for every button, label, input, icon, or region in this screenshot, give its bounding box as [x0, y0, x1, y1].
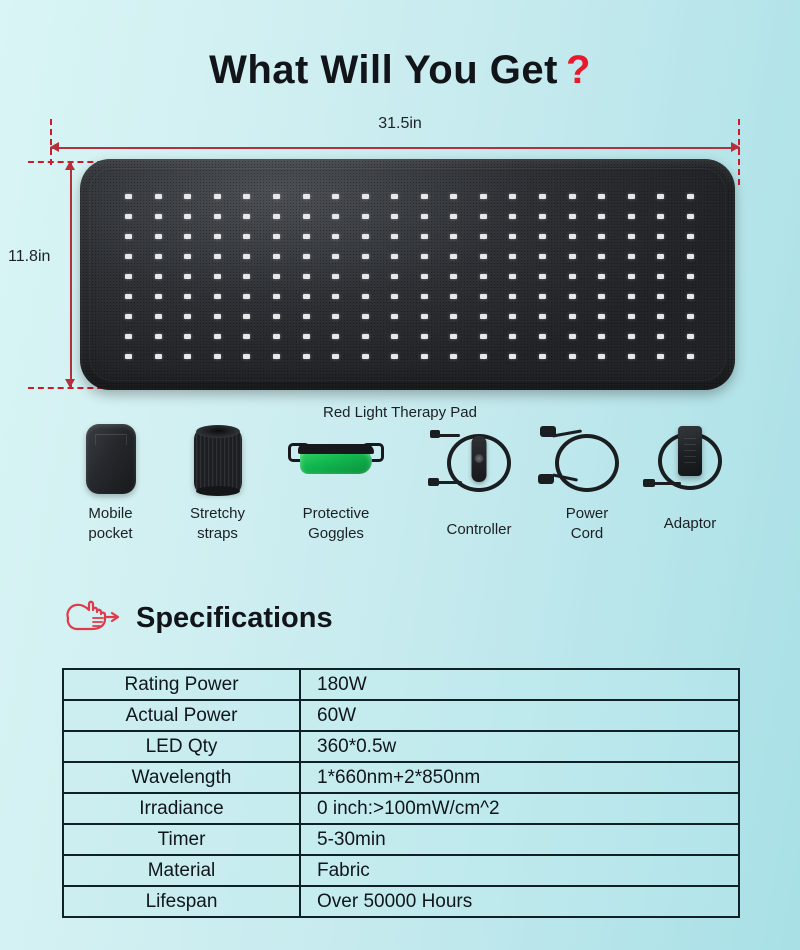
led-dot — [598, 314, 605, 319]
led-dot — [687, 334, 694, 339]
led-dot — [362, 234, 369, 239]
accessory-label: Power Cord — [532, 504, 642, 545]
table-row: Timer5-30min — [63, 824, 739, 855]
led-dot — [125, 214, 132, 219]
table-row: MaterialFabric — [63, 855, 739, 886]
led-dot — [509, 234, 516, 239]
spec-value: 360*0.5w — [300, 731, 739, 762]
led-dot — [214, 334, 221, 339]
led-dot — [628, 314, 635, 319]
led-dot — [243, 334, 250, 339]
led-dot — [687, 234, 694, 239]
height-dimension-label: 11.8in — [8, 248, 50, 266]
accessories-row: Mobile pocket Stretchy straps Protective… — [0, 418, 800, 578]
led-dot — [362, 274, 369, 279]
led-dot — [362, 314, 369, 319]
led-dot — [569, 274, 576, 279]
led-dot — [391, 194, 398, 199]
led-dot — [125, 234, 132, 239]
led-dot — [155, 234, 162, 239]
led-dot — [332, 254, 339, 259]
spec-value: 180W — [300, 669, 739, 700]
led-dot — [687, 274, 694, 279]
width-dimension-label: 31.5in — [0, 115, 800, 133]
led-dot — [450, 234, 457, 239]
led-dot — [657, 334, 664, 339]
led-dot — [628, 274, 635, 279]
led-dot — [125, 194, 132, 199]
led-dot — [509, 274, 516, 279]
accessory-mobile-pocket: Mobile pocket — [58, 418, 163, 545]
led-dot — [628, 214, 635, 219]
spec-key: Irradiance — [63, 793, 300, 824]
spec-key: Timer — [63, 824, 300, 855]
led-dot — [421, 254, 428, 259]
width-dimension-line — [50, 147, 740, 149]
led-dot — [184, 354, 191, 359]
led-dot — [539, 354, 546, 359]
led-dot — [155, 354, 162, 359]
led-dot — [539, 194, 546, 199]
led-dot — [391, 274, 398, 279]
led-dot — [214, 294, 221, 299]
led-dot — [687, 254, 694, 259]
led-dot — [332, 194, 339, 199]
led-dot — [450, 194, 457, 199]
page-title-text: What Will You Get — [209, 48, 558, 92]
accessory-power-cord: Power Cord — [532, 418, 642, 545]
led-dot — [303, 274, 310, 279]
led-dot — [569, 354, 576, 359]
led-dot — [539, 314, 546, 319]
led-dot — [184, 214, 191, 219]
table-row: LifespanOver 50000 Hours — [63, 886, 739, 917]
pointing-hand-icon — [62, 596, 122, 641]
led-dot — [214, 254, 221, 259]
spec-key: Lifespan — [63, 886, 300, 917]
led-dot — [391, 214, 398, 219]
spec-key: Material — [63, 855, 300, 886]
led-dot — [243, 194, 250, 199]
led-dot — [184, 194, 191, 199]
led-dot — [303, 294, 310, 299]
spec-key: Rating Power — [63, 669, 300, 700]
led-dot — [155, 194, 162, 199]
led-dot — [125, 314, 132, 319]
led-dot — [332, 274, 339, 279]
power-cord-icon — [532, 418, 642, 498]
led-dot — [450, 254, 457, 259]
accessory-label: Mobile pocket — [58, 504, 163, 545]
led-dot — [509, 314, 516, 319]
led-dot — [155, 294, 162, 299]
led-dot — [184, 294, 191, 299]
led-dot — [362, 294, 369, 299]
led-dot — [539, 234, 546, 239]
led-dot — [362, 194, 369, 199]
led-dot — [155, 254, 162, 259]
led-dot — [480, 274, 487, 279]
led-dot — [450, 274, 457, 279]
controller-cable-tail-bottom — [438, 481, 462, 484]
led-dot — [598, 294, 605, 299]
specifications-title: Specifications — [136, 602, 333, 635]
led-dot — [243, 274, 250, 279]
controller-plug — [430, 430, 440, 438]
spec-value: Fabric — [300, 855, 739, 886]
led-dot — [243, 234, 250, 239]
table-row: Rating Power180W — [63, 669, 739, 700]
specifications-table-body: Rating Power180WActual Power60WLED Qty36… — [63, 669, 739, 917]
led-dot — [303, 194, 310, 199]
controller-cable-tail — [438, 434, 460, 437]
spec-value: Over 50000 Hours — [300, 886, 739, 917]
led-dot — [598, 234, 605, 239]
led-dot — [125, 254, 132, 259]
product-illustration: 31.5in 11.8in — [0, 115, 800, 405]
led-dot — [125, 354, 132, 359]
led-dot — [421, 214, 428, 219]
led-dot — [628, 294, 635, 299]
iec-connector — [540, 426, 556, 437]
adaptor-dc-plug — [643, 479, 655, 487]
led-dot — [450, 314, 457, 319]
led-dot — [569, 194, 576, 199]
led-dot — [598, 334, 605, 339]
led-dot — [657, 194, 664, 199]
led-dot — [303, 334, 310, 339]
led-dot — [391, 334, 398, 339]
led-dot — [687, 294, 694, 299]
led-dot — [243, 254, 250, 259]
led-dot — [450, 334, 457, 339]
led-dot — [480, 194, 487, 199]
led-dot — [421, 274, 428, 279]
led-dot — [155, 334, 162, 339]
spec-value: 1*660nm+2*850nm — [300, 762, 739, 793]
led-dot — [598, 254, 605, 259]
led-dot — [569, 214, 576, 219]
led-dot — [509, 294, 516, 299]
led-dot — [362, 334, 369, 339]
led-dot — [480, 294, 487, 299]
led-dot — [273, 194, 280, 199]
height-dimension-line — [70, 163, 72, 387]
spec-key: Wavelength — [63, 762, 300, 793]
led-dot — [125, 334, 132, 339]
led-dot — [332, 334, 339, 339]
led-dot — [214, 354, 221, 359]
led-dot — [303, 354, 310, 359]
led-dot — [391, 314, 398, 319]
led-dot — [125, 294, 132, 299]
adaptor-icon — [635, 418, 745, 498]
led-dot — [391, 294, 398, 299]
led-dot — [362, 254, 369, 259]
led-dot — [273, 234, 280, 239]
led-dot — [539, 214, 546, 219]
led-dot — [657, 274, 664, 279]
led-dot — [421, 294, 428, 299]
protective-goggles-icon — [281, 418, 391, 498]
led-dot — [155, 274, 162, 279]
led-dot — [569, 294, 576, 299]
accessory-adaptor: Adaptor — [635, 418, 745, 534]
led-dot — [480, 214, 487, 219]
led-dot — [155, 314, 162, 319]
controller-icon — [424, 418, 534, 498]
led-dot — [273, 354, 280, 359]
led-dot — [303, 314, 310, 319]
question-mark: ? — [566, 48, 591, 92]
led-dot — [184, 274, 191, 279]
led-dot — [657, 234, 664, 239]
spec-key: Actual Power — [63, 700, 300, 731]
led-dot — [687, 194, 694, 199]
led-grid — [114, 187, 705, 366]
led-dot — [303, 254, 310, 259]
led-dot — [687, 214, 694, 219]
led-dot — [480, 234, 487, 239]
led-dot — [421, 314, 428, 319]
led-dot — [391, 354, 398, 359]
accessory-label: Protective Goggles — [281, 504, 391, 545]
led-dot — [243, 294, 250, 299]
led-dot — [480, 254, 487, 259]
led-dot — [214, 314, 221, 319]
table-row: LED Qty360*0.5w — [63, 731, 739, 762]
led-dot — [391, 234, 398, 239]
accessory-label: Stretchy straps — [165, 504, 270, 545]
led-dot — [332, 294, 339, 299]
led-dot — [214, 214, 221, 219]
led-dot — [125, 274, 132, 279]
led-dot — [539, 274, 546, 279]
led-dot — [303, 214, 310, 219]
led-dot — [569, 334, 576, 339]
led-dot — [243, 214, 250, 219]
led-dot — [628, 194, 635, 199]
led-dot — [421, 234, 428, 239]
led-dot — [687, 354, 694, 359]
led-dot — [273, 274, 280, 279]
height-arrow-up-icon — [65, 161, 75, 170]
led-dot — [687, 314, 694, 319]
led-dot — [273, 294, 280, 299]
led-dot — [362, 354, 369, 359]
spec-value: 60W — [300, 700, 739, 731]
table-row: Actual Power60W — [63, 700, 739, 731]
specifications-header: Specifications — [62, 596, 333, 641]
led-dot — [243, 314, 250, 319]
led-dot — [184, 314, 191, 319]
led-dot — [569, 234, 576, 239]
led-dot — [480, 354, 487, 359]
led-dot — [539, 294, 546, 299]
page-title: What Will You Get? — [0, 48, 800, 93]
led-dot — [214, 274, 221, 279]
led-dot — [362, 214, 369, 219]
mobile-pocket-icon — [58, 418, 163, 498]
accessory-label: Adaptor — [635, 514, 745, 534]
led-dot — [569, 314, 576, 319]
accessory-stretchy-straps: Stretchy straps — [165, 418, 270, 545]
left-extension-line — [50, 119, 52, 165]
led-dot — [421, 194, 428, 199]
led-dot — [273, 314, 280, 319]
led-dot — [243, 354, 250, 359]
led-dot — [539, 254, 546, 259]
led-dot — [657, 254, 664, 259]
led-dot — [628, 354, 635, 359]
led-dot — [450, 294, 457, 299]
led-dot — [539, 334, 546, 339]
led-dot — [184, 334, 191, 339]
led-dot — [155, 214, 162, 219]
led-dot — [184, 254, 191, 259]
led-dot — [184, 234, 191, 239]
spec-value: 0 inch:>100mW/cm^2 — [300, 793, 739, 824]
led-dot — [303, 234, 310, 239]
led-dot — [214, 194, 221, 199]
led-dot — [569, 254, 576, 259]
table-row: Irradiance0 inch:>100mW/cm^2 — [63, 793, 739, 824]
led-dot — [332, 314, 339, 319]
led-dot — [273, 334, 280, 339]
led-dot — [214, 234, 221, 239]
led-dot — [657, 354, 664, 359]
led-dot — [598, 274, 605, 279]
led-dot — [509, 194, 516, 199]
led-dot — [273, 214, 280, 219]
height-arrow-down-icon — [65, 379, 75, 388]
led-dot — [450, 354, 457, 359]
led-dot — [628, 234, 635, 239]
led-dot — [657, 314, 664, 319]
led-dot — [391, 254, 398, 259]
led-dot — [480, 314, 487, 319]
led-dot — [509, 254, 516, 259]
led-dot — [657, 294, 664, 299]
red-light-therapy-pad — [80, 159, 735, 390]
led-dot — [628, 334, 635, 339]
adaptor-output-lead — [653, 482, 681, 485]
accessory-protective-goggles: Protective Goggles — [281, 418, 391, 545]
led-dot — [332, 234, 339, 239]
led-dot — [509, 354, 516, 359]
controller-plug-bottom — [428, 478, 439, 486]
led-dot — [657, 214, 664, 219]
led-dot — [421, 354, 428, 359]
specifications-table: Rating Power180WActual Power60WLED Qty36… — [62, 668, 740, 918]
spec-key: LED Qty — [63, 731, 300, 762]
right-extension-line — [738, 119, 740, 185]
led-dot — [628, 254, 635, 259]
stretchy-straps-icon — [165, 418, 270, 498]
led-dot — [332, 214, 339, 219]
led-dot — [509, 214, 516, 219]
led-dot — [332, 354, 339, 359]
accessory-controller: Controller — [424, 418, 534, 540]
led-dot — [598, 194, 605, 199]
led-dot — [273, 254, 280, 259]
led-dot — [421, 334, 428, 339]
led-dot — [509, 334, 516, 339]
led-dot — [598, 214, 605, 219]
led-dot — [598, 354, 605, 359]
wall-plug — [538, 474, 554, 484]
spec-value: 5-30min — [300, 824, 739, 855]
accessory-label: Controller — [424, 520, 534, 540]
led-dot — [480, 334, 487, 339]
table-row: Wavelength1*660nm+2*850nm — [63, 762, 739, 793]
led-dot — [450, 214, 457, 219]
